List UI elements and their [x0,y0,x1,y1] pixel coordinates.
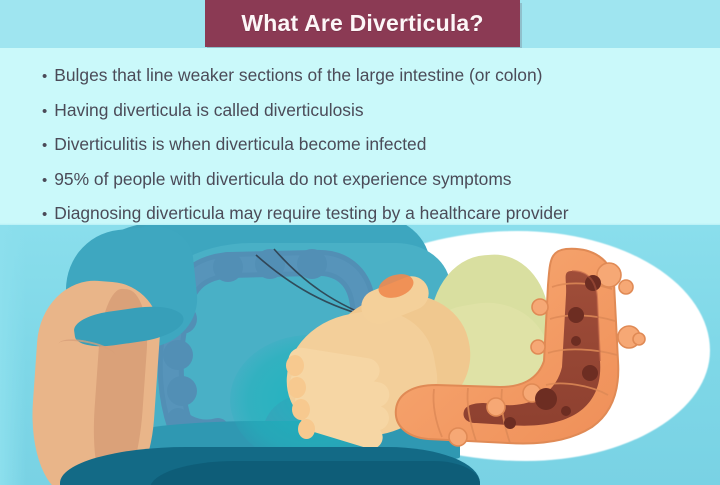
list-item: • 95% of people with diverticula do not … [42,163,720,198]
list-item: • Having diverticula is called diverticu… [42,94,720,129]
bullet-panel: • Bulges that line weaker sections of th… [0,48,720,226]
person-fingertip [286,355,304,376]
bullet-text: 95% of people with diverticula do not ex… [54,163,511,196]
person-fingertip [292,399,310,420]
bullet-dot-icon: • [42,96,47,129]
person-fingertip [288,377,306,398]
person-fingertip [298,419,315,439]
bullet-dot-icon: • [42,130,47,163]
bullet-text: Bulges that line weaker sections of the … [54,59,542,92]
left-edge-fade [0,225,26,485]
infographic-canvas: What Are Diverticula? • Bulges that line… [0,0,720,485]
bullet-text: Having diverticula is called diverticulo… [54,94,363,127]
bullet-dot-icon: • [42,61,47,94]
colon-diagram-icon [380,241,710,471]
bullet-list: • Bulges that line weaker sections of th… [0,59,720,232]
bullet-text: Diverticulitis is when diverticula becom… [54,128,426,161]
page-title: What Are Diverticula? [241,10,483,37]
title-banner: What Are Diverticula? [205,0,520,47]
illustration-area [0,225,720,485]
list-item: • Bulges that line weaker sections of th… [42,59,720,94]
bullet-dot-icon: • [42,165,47,198]
list-item: • Diverticulitis is when diverticula bec… [42,128,720,163]
